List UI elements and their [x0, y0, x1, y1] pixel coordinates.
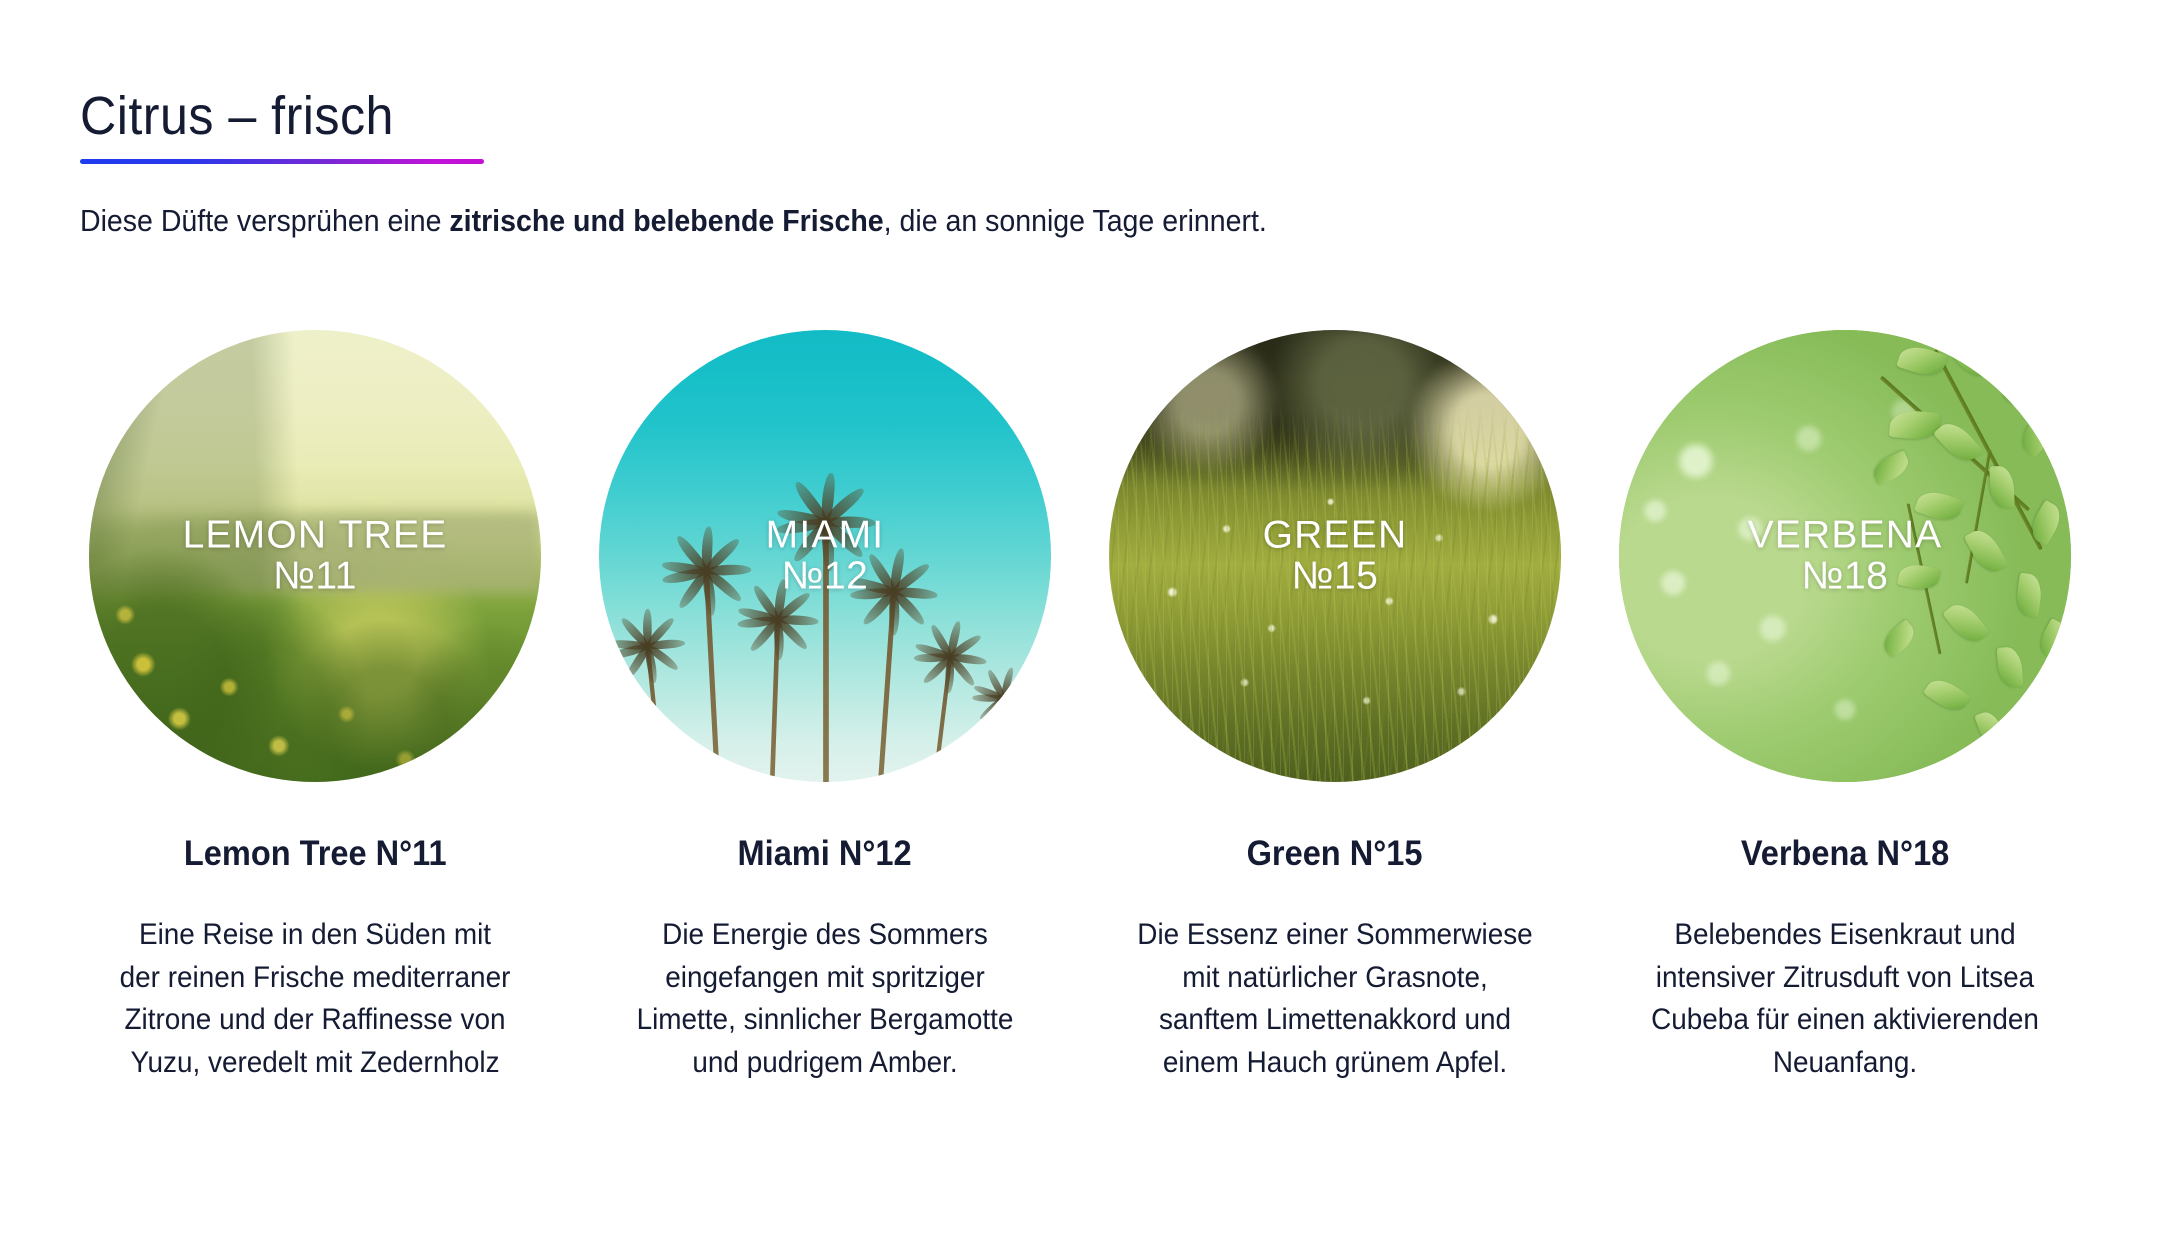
product-title: Lemon Tree N°11	[184, 834, 447, 874]
palm-tree	[934, 653, 952, 782]
leaf	[1974, 708, 2008, 751]
palm-tree	[705, 566, 718, 782]
leaf	[1923, 673, 1971, 717]
palm-trees-image	[599, 330, 1051, 782]
leaf	[2025, 499, 2066, 546]
palm-tree	[988, 695, 1004, 782]
subtitle-text-before: Diese Düfte versprühen eine	[80, 203, 449, 238]
leaf	[2014, 573, 2044, 618]
leaf	[2020, 728, 2048, 766]
product-description: Die Essenz einer Sommerwiese mit natürli…	[1135, 914, 1535, 1084]
leaf	[1878, 619, 1920, 659]
leaf	[1914, 486, 1964, 525]
leaf	[1998, 355, 2030, 405]
product-card-grid: LEMON TREE №11 Lemon Tree N°11 Eine Reis…	[60, 330, 2100, 1084]
leaf	[1989, 465, 2014, 508]
fragrance-category-page: Citrus – frisch Diese Düfte versprühen e…	[0, 0, 2160, 1258]
leaf	[2035, 618, 2071, 660]
leaf	[1889, 409, 1941, 441]
leaf	[2015, 408, 2063, 458]
leaf	[1996, 647, 2023, 689]
product-description: Eine Reise in den Süden mit der reinen F…	[115, 914, 515, 1084]
product-card-verbena[interactable]: VERBENA №18 Verbena N°18 Belebendes Eise…	[1590, 330, 2100, 1084]
palm-tree	[771, 615, 778, 782]
subtitle-text-bold: zitrische und belebende Frische	[449, 203, 883, 238]
dewy-grass-image	[1109, 330, 1561, 782]
product-card-lemon-tree[interactable]: LEMON TREE №11 Lemon Tree N°11 Eine Reis…	[60, 330, 570, 1084]
palm-tree	[825, 516, 826, 782]
palm-tree	[879, 586, 894, 782]
subtitle-text-after: , die an sonnige Tage erinnert.	[884, 203, 1267, 238]
leaf	[1897, 561, 1941, 593]
product-title: Verbena N°18	[1741, 834, 1949, 874]
product-title: Miami N°12	[738, 834, 912, 874]
product-description: Die Energie des Sommers eingefangen mit …	[625, 914, 1025, 1084]
product-image-lemon-tree[interactable]: LEMON TREE №11	[89, 330, 541, 782]
leaf	[1943, 598, 1991, 649]
page-subtitle: Diese Düfte versprühen eine zitrische un…	[80, 200, 1828, 242]
product-card-green[interactable]: GREEN №15 Green N°15 Die Essenz einer So…	[1080, 330, 1590, 1084]
title-gradient-rule	[80, 159, 484, 164]
product-description: Belebendes Eisenkraut und intensiver Zit…	[1645, 914, 2045, 1084]
page-title: Citrus – frisch	[80, 88, 1847, 145]
green-leaves-image	[1619, 330, 2071, 782]
palm-trees-silhouette	[599, 330, 1051, 782]
product-title: Green N°15	[1247, 834, 1423, 874]
palm-tree	[647, 642, 663, 782]
product-image-verbena[interactable]: VERBENA №18	[1619, 330, 2071, 782]
page-header: Citrus – frisch Diese Düfte versprühen e…	[80, 88, 1980, 242]
lemon-grove-image	[89, 330, 541, 782]
leaf	[1896, 342, 1948, 381]
leaf-cluster	[1619, 330, 2071, 782]
product-image-miami[interactable]: MIAMI №12	[599, 330, 1051, 782]
leaf	[1869, 450, 1913, 486]
product-card-miami[interactable]: MIAMI №12 Miami N°12 Die Energie des Som…	[570, 330, 1080, 1084]
product-image-green[interactable]: GREEN №15	[1109, 330, 1561, 782]
